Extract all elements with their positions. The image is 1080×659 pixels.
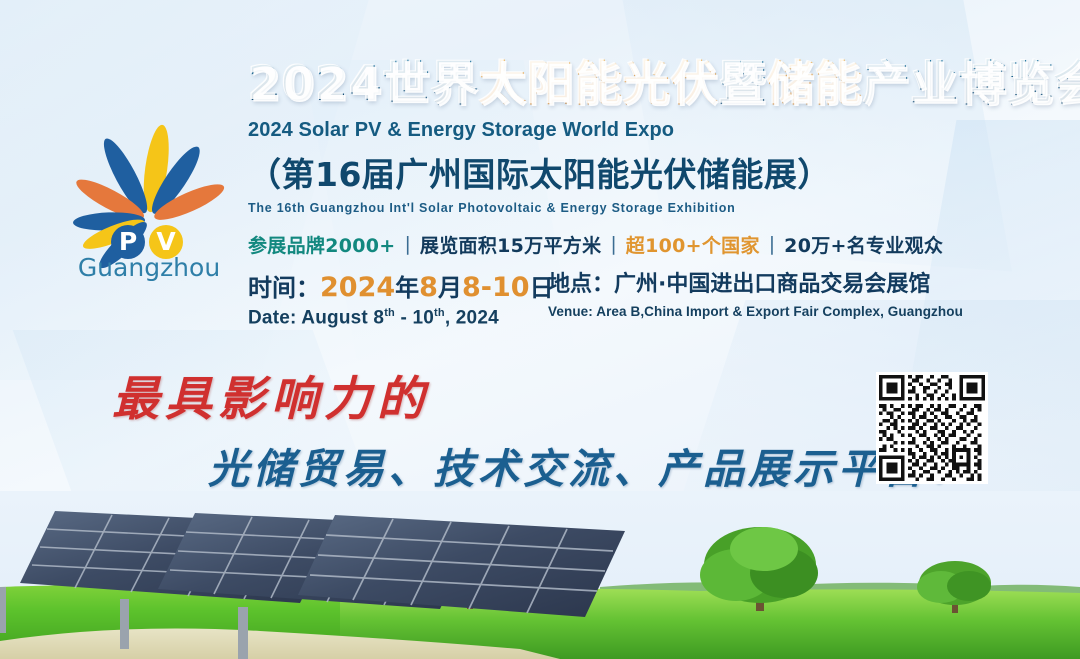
date-year-unit: 年 (395, 274, 419, 302)
date-days: 8-10 (462, 272, 530, 303)
landscape-illustration (0, 491, 1080, 659)
date-english: Date: August 8th - 10th, 2024 (248, 307, 546, 329)
date-month-unit: 月 (438, 274, 462, 302)
subtitle-english: The 16th Guangzhou Int'l Solar Photovolt… (248, 201, 1048, 215)
date-en-sup-2: th (434, 307, 445, 319)
expo-banner: P V Guangzhou 2024世界太阳能光伏暨储能产业博览会 2024 S… (0, 0, 1080, 659)
stat-brands: 参展品牌2000+ (248, 231, 396, 258)
stat-separator: | (601, 233, 625, 255)
date-label: 时间： (248, 274, 320, 302)
page-title: 2024世界太阳能光伏暨储能产业博览会 (248, 60, 1048, 110)
header-block: 2024世界太阳能光伏暨储能产业博览会 2024 Solar PV & Ener… (248, 60, 1048, 329)
date-month: 8 (419, 272, 438, 303)
logo-wordmark: Guangzhou (78, 253, 220, 282)
date-en-day-end: 10 (412, 307, 434, 328)
date-en-dash: - (395, 307, 413, 328)
date-year: 2024 (320, 272, 395, 303)
sunburst-petals (72, 123, 228, 273)
venue-english: Venue: Area B,China Import & Export Fair… (548, 304, 963, 319)
date-en-day-start: 8 (373, 307, 384, 328)
title-part-4: 储能 (767, 57, 863, 112)
stat-area: 展览面积15万平方米 (420, 231, 601, 258)
venue-block: 地点：广州·中国进出口商品交易会展馆 Venue: Area B,China I… (546, 272, 963, 319)
subtitle-chinese: （第16届广州国际太阳能光伏储能展） (248, 148, 1048, 196)
stat-separator: | (760, 233, 784, 255)
date-en-sup-1: th (384, 307, 395, 319)
venue-chinese: 地点：广州·中国进出口商品交易会展馆 (548, 272, 963, 298)
svg-text:V: V (156, 227, 176, 256)
date-en-prefix: Date: August (248, 307, 373, 328)
stat-separator: | (396, 233, 420, 255)
title-part-1: 2024世界 (248, 57, 479, 112)
slogan-block: 最具影响力的 光储贸易、技术交流、产品展示平台！ (0, 360, 880, 495)
date-venue-row: 时间：2024年8月8-10日 Date: August 8th - 10th,… (248, 272, 1048, 329)
date-en-suffix: , 2024 (445, 307, 499, 328)
stat-countries: 超100+个国家 (626, 231, 760, 258)
date-block: 时间：2024年8月8-10日 Date: August 8th - 10th,… (248, 272, 546, 329)
stat-visitors: 20万+名专业观众 (784, 231, 943, 258)
title-part-5: 产业博览会 (863, 57, 1080, 112)
date-chinese: 时间：2024年8月8-10日 (248, 272, 546, 304)
qr-code-image[interactable] (876, 372, 988, 484)
slogan-line-2: 光储贸易、技术交流、产品展示平台！ (208, 435, 880, 495)
stats-row: 参展品牌2000+ | 展览面积15万平方米 | 超100+个国家 | 20万+… (248, 231, 1048, 258)
svg-text:P: P (119, 227, 137, 256)
title-part-2: 太阳能光伏 (479, 57, 719, 112)
title-part-3: 暨 (719, 57, 767, 112)
pv-guangzhou-logo: P V Guangzhou (56, 96, 242, 282)
slogan-line-1: 最具影响力的 (112, 360, 880, 429)
title-english: 2024 Solar PV & Energy Storage World Exp… (248, 119, 1048, 142)
